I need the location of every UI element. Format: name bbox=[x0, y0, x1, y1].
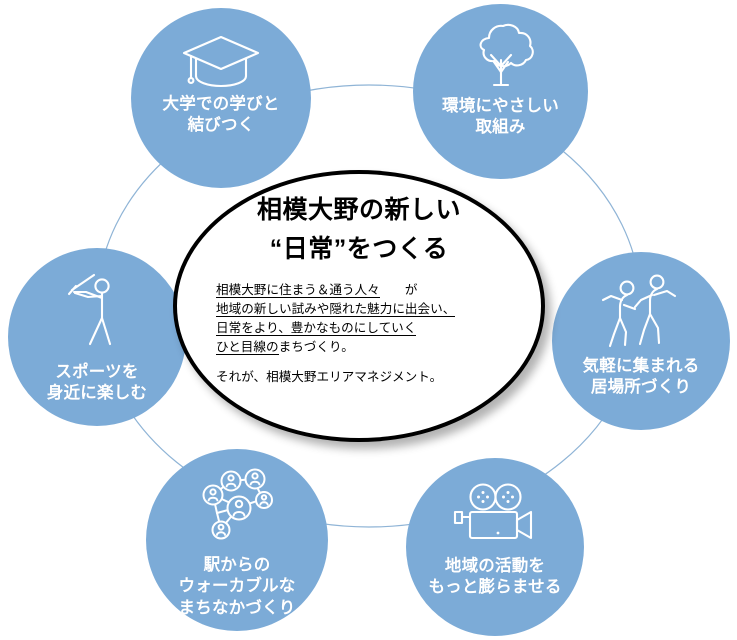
infographic-canvas: 大学での学びと 結びつく 環境にやさしい 取組み bbox=[0, 0, 737, 640]
page-title: 相模大野の新しい “日常”をつくる bbox=[257, 191, 461, 269]
node-gathering-label: 気軽に集まれる 居場所づくり bbox=[583, 356, 700, 399]
body-line-1: 相模大野に住まう＆通う人々 が bbox=[216, 281, 502, 300]
movie-camera-icon bbox=[449, 482, 541, 548]
node-sports[interactable]: スポーツを 身近に楽しむ bbox=[8, 248, 186, 426]
body-line-4: ひと目線のまちづくり。 bbox=[216, 338, 502, 357]
node-university[interactable]: 大学での学びと 結びつく bbox=[131, 8, 311, 188]
body-line-2: 地域の新しい試みや隠れた魅力に出会い、 bbox=[216, 300, 502, 319]
node-environment-label: 環境にやさしい 取組み bbox=[442, 96, 559, 139]
center-body-text: 相模大野に住まう＆通う人々 が 地域の新しい試みや隠れた魅力に出会い、 日常をよ… bbox=[216, 281, 502, 387]
people-network-icon bbox=[191, 467, 283, 553]
node-gathering[interactable]: 気軽に集まれる 居場所づくり bbox=[552, 252, 730, 430]
body-line-3: 日常をより、豊かなものにしていく bbox=[216, 319, 502, 338]
node-university-label: 大学での学びと 結びつく bbox=[163, 94, 280, 137]
tree-icon bbox=[461, 22, 541, 92]
node-activity[interactable]: 地域の活動を もっと膨らませる bbox=[406, 458, 584, 636]
body-line-1-plain: が bbox=[380, 283, 418, 297]
node-environment[interactable]: 環境にやさしい 取組み bbox=[413, 4, 588, 179]
node-activity-label: 地域の活動を もっと膨らませる bbox=[428, 556, 561, 599]
body-line-2-underlined: 地域の新しい試みや隠れた魅力に出会い、 bbox=[216, 302, 455, 317]
body-line-4-underlined: ひと目線の bbox=[216, 340, 279, 355]
center-closing-text: それが、相模大野エリアマネジメント。 bbox=[216, 368, 502, 387]
body-line-3-underlined: 日常をより、豊かなものにしていく bbox=[216, 321, 416, 336]
node-walkable-label: 駅からの ウォーカブルな まちなかづくり bbox=[179, 555, 296, 619]
center-statement-card: 相模大野の新しい “日常”をつくる 相模大野に住まう＆通う人々 が 地域の新しい… bbox=[173, 170, 545, 442]
body-line-1-underlined: 相模大野に住まう＆通う人々 bbox=[216, 283, 380, 298]
baseball-batter-icon bbox=[58, 272, 136, 352]
two-people-dancing-icon bbox=[593, 274, 689, 350]
node-walkable[interactable]: 駅からの ウォーカブルな まちなかづくり bbox=[146, 449, 328, 631]
body-line-4-plain: まちづくり。 bbox=[279, 340, 354, 354]
node-sports-label: スポーツを 身近に楽しむ bbox=[47, 362, 147, 405]
graduation-cap-icon bbox=[178, 30, 264, 90]
